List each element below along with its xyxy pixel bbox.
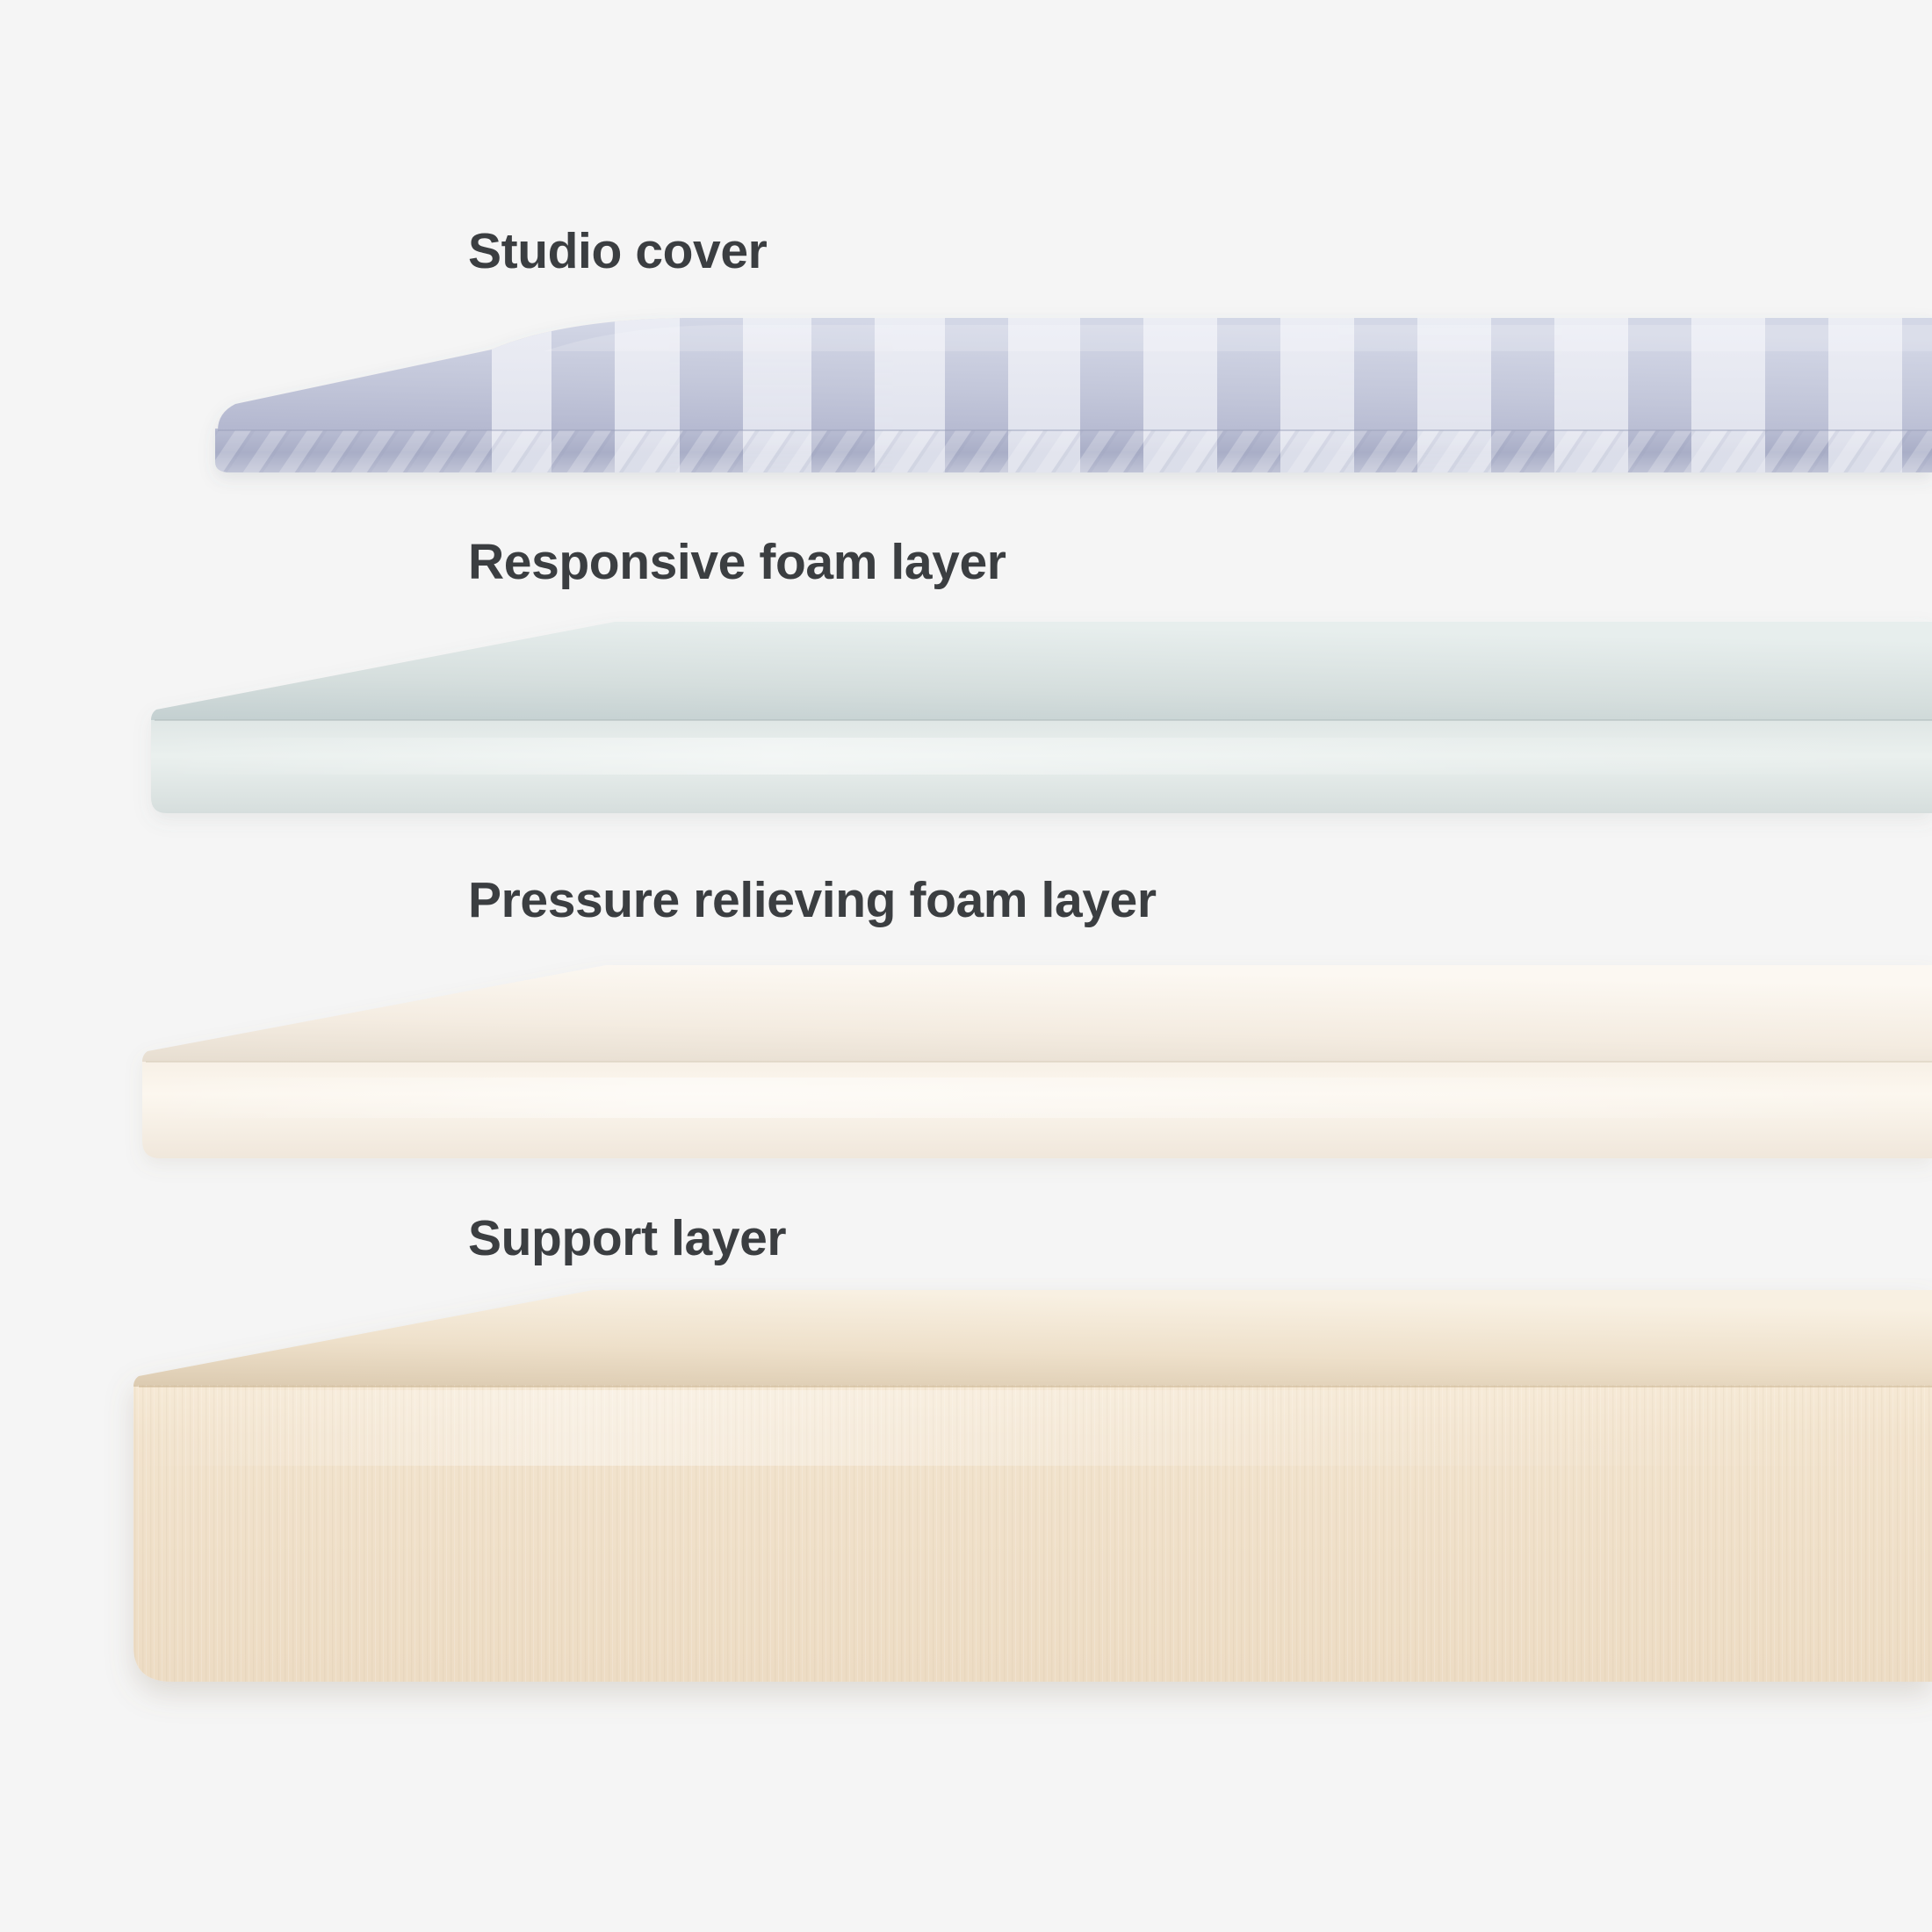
layer-pressure-relieving-foam [0,953,1932,1194]
layer-responsive-foam [0,606,1932,847]
cover-quilting-texture [215,430,1932,472]
layer-label-studio-cover: Studio cover [468,227,767,277]
cover-top-highlight [544,325,1932,351]
layer-label-pressure-relieving-foam: Pressure relieving foam layer [468,876,1157,926]
support-top-face [133,1290,1932,1387]
layer-label-responsive-foam: Responsive foam layer [468,537,1006,588]
pressure-top-face [142,965,1932,1062]
layer-support [0,1278,1932,1734]
mattress-layer-diagram: Studio cover Responsive foam layer Press… [0,0,1932,1932]
layer-label-support: Support layer [468,1214,786,1264]
pressure-front-gloss [142,1078,1932,1118]
layer-studio-cover [0,299,1932,501]
support-front-gloss [133,1390,1932,1466]
responsive-top-face [151,622,1932,720]
responsive-front-gloss [151,738,1932,775]
